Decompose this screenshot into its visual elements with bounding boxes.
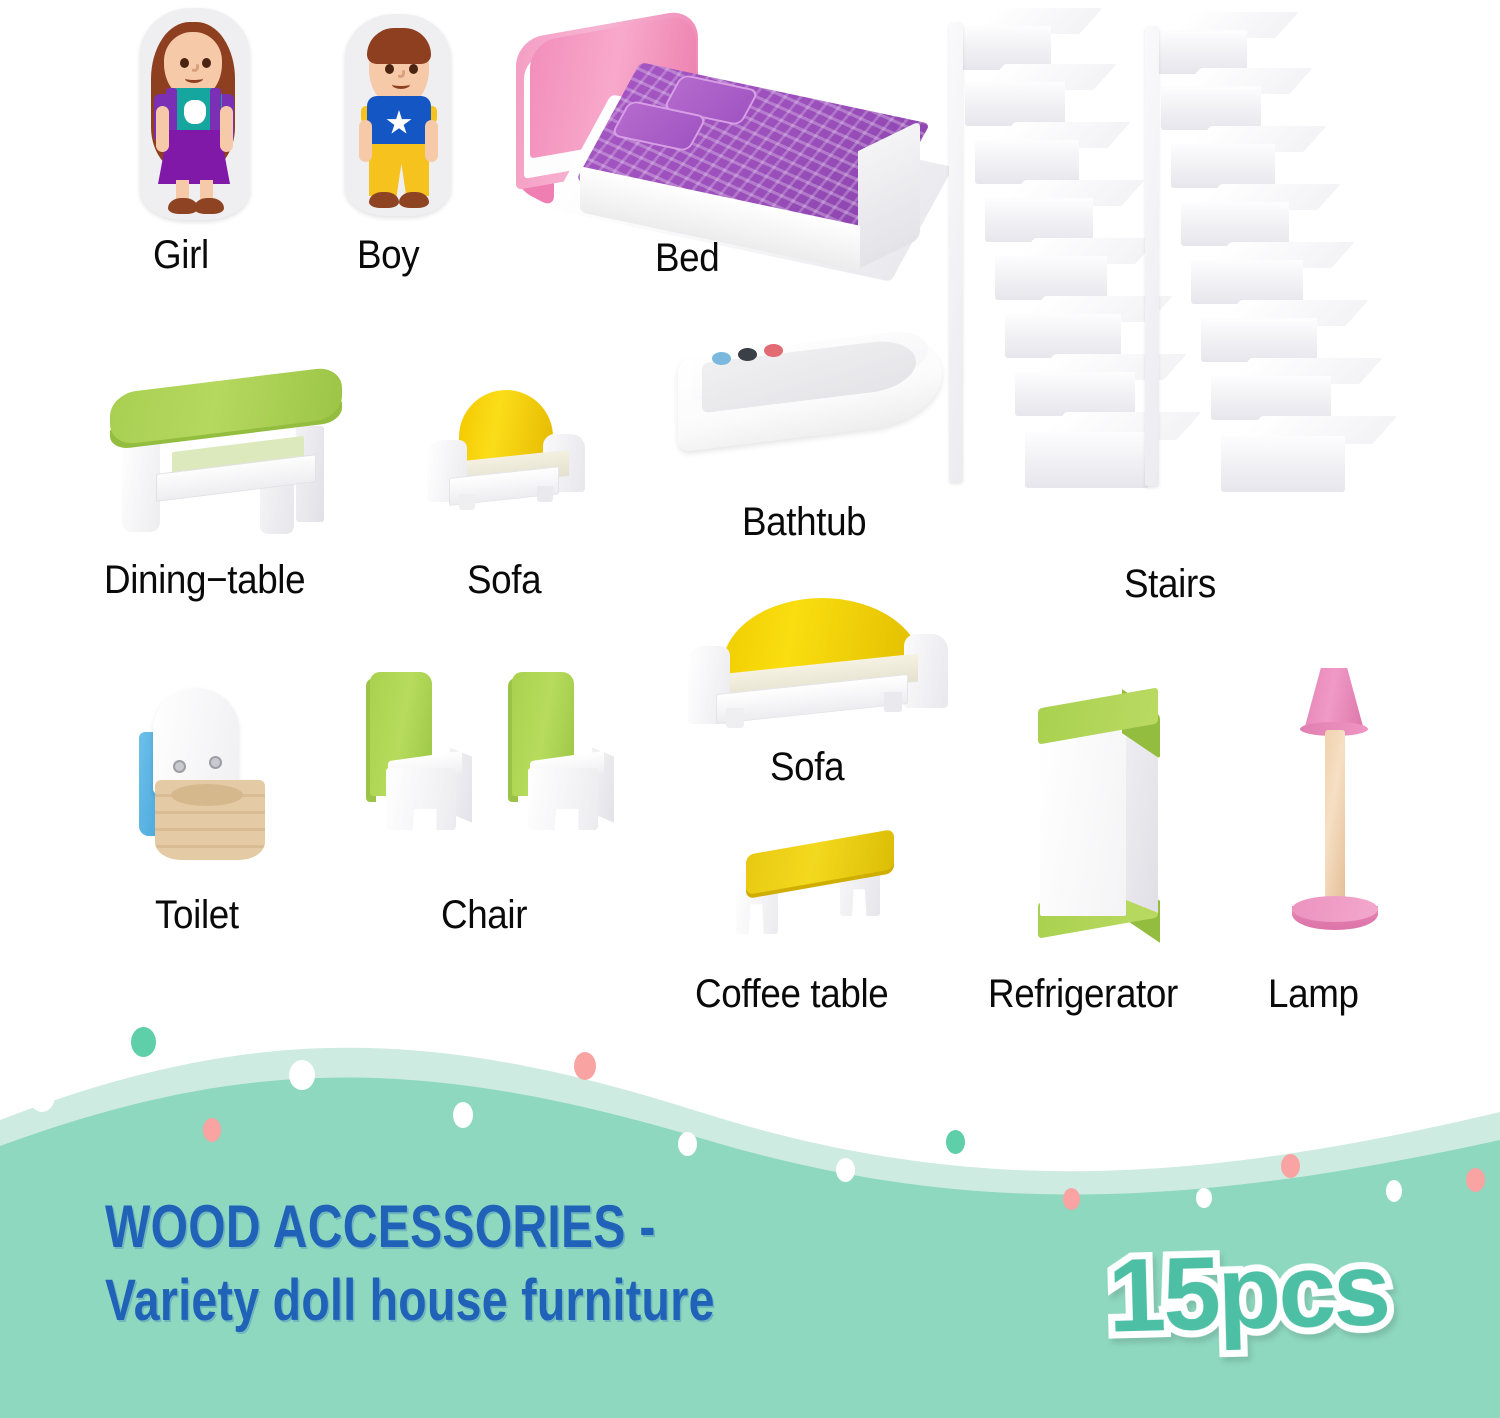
banner-dot — [678, 1132, 697, 1156]
product-item-sofa-chair — [425, 390, 595, 520]
doll-girl-figure — [140, 8, 250, 220]
banner-dot — [1281, 1154, 1300, 1178]
banner-dot — [1386, 1180, 1402, 1202]
banner-dot — [29, 1080, 55, 1112]
chair-furniture — [366, 672, 476, 852]
product-label-stairs: Stairs — [1124, 562, 1216, 607]
banner-dot — [946, 1130, 965, 1154]
product-item-lamp — [1278, 668, 1393, 948]
chair-furniture-second — [508, 672, 618, 852]
product-item-coffee-table — [730, 838, 910, 948]
product-item-bathtub — [678, 338, 948, 468]
refrigerator-furniture — [1038, 688, 1178, 948]
bathtub-knob-spout — [738, 348, 757, 361]
bathtub-knob-cold — [712, 352, 731, 365]
product-label-chair: Chair — [441, 893, 527, 938]
banner-dot — [289, 1060, 315, 1090]
bathtub-knob-hot — [764, 344, 783, 357]
doll-boy-figure — [345, 14, 451, 216]
stairs-furniture-second — [1131, 10, 1341, 540]
bed-furniture — [508, 24, 928, 224]
product-label-sofa-large: Sofa — [770, 745, 844, 790]
product-label-bed: Bed — [655, 236, 719, 281]
banner-dot — [836, 1158, 855, 1182]
banner-dot — [131, 1027, 156, 1057]
product-label-refrigerator: Refrigerator — [988, 972, 1178, 1017]
coffee-table-furniture — [730, 838, 910, 948]
banner-dot — [203, 1118, 221, 1142]
banner-dot — [1196, 1188, 1212, 1208]
product-item-refrigerator — [1038, 688, 1178, 948]
product-item-toilet — [125, 688, 305, 878]
product-item-boy — [345, 14, 451, 216]
stairs-furniture — [935, 6, 1145, 536]
product-label-girl: Girl — [153, 233, 209, 278]
armchair-furniture — [425, 390, 595, 520]
product-infographic: Girl Boy — [0, 0, 1500, 1418]
product-label-lamp: Lamp — [1268, 972, 1359, 1017]
sofa-furniture — [688, 598, 958, 738]
product-label-toilet: Toilet — [155, 893, 239, 938]
product-item-sofa-large — [688, 598, 958, 738]
piece-count-badge: 15pcs — [1106, 1230, 1389, 1356]
banner-dot — [574, 1052, 596, 1080]
banner-headline: WOOD ACCESSORIES - Variety doll house fu… — [105, 1190, 921, 1338]
dining-table-furniture — [100, 372, 350, 542]
banner-dot — [1466, 1168, 1485, 1192]
product-item-bed — [508, 24, 928, 224]
headline-line-1: WOOD ACCESSORIES - — [105, 1190, 921, 1264]
product-label-boy: Boy — [357, 233, 419, 278]
headline-line-2: Variety doll house furniture — [105, 1264, 921, 1338]
bathtub-furniture — [678, 338, 948, 468]
toilet-furniture — [125, 688, 305, 878]
product-label-sofa-chair: Sofa — [467, 558, 541, 603]
product-label-bathtub: Bathtub — [742, 500, 866, 545]
product-label-coffee-table: Coffee table — [695, 972, 888, 1017]
product-item-dining-table — [100, 372, 350, 542]
banner-dot — [453, 1102, 473, 1128]
lamp-furniture — [1278, 668, 1393, 948]
product-item-girl — [140, 8, 250, 220]
banner-dot — [1063, 1188, 1080, 1210]
product-item-stairs — [935, 6, 1385, 536]
product-label-dining-table: Dining−table — [104, 558, 305, 603]
product-item-chair — [366, 672, 626, 852]
